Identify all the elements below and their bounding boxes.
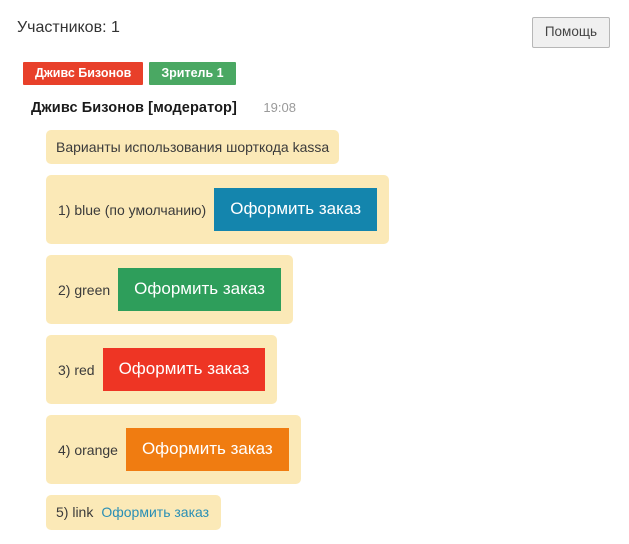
message-bubble-orange: 4) orange Оформить заказ bbox=[46, 415, 301, 484]
participant-badge-moderator[interactable]: Дживс Бизонов bbox=[23, 62, 143, 85]
message-bubble-link: 5) link Оформить заказ bbox=[46, 495, 221, 530]
bubble-label-link: 5) link bbox=[56, 503, 93, 521]
order-button-blue[interactable]: Оформить заказ bbox=[214, 188, 377, 231]
chat-message: Дживс Бизонов [модератор] 19:08 Варианты… bbox=[0, 98, 629, 541]
order-button-green[interactable]: Оформить заказ bbox=[118, 268, 281, 311]
bubble-label-blue: 1) blue (по умолчанию) bbox=[58, 201, 206, 219]
bubble-label-red: 3) red bbox=[58, 361, 95, 379]
order-link[interactable]: Оформить заказ bbox=[101, 503, 209, 521]
bubble-label-green: 2) green bbox=[58, 281, 110, 299]
message-bubble-text: Варианты использования шорткода kassa bbox=[46, 130, 339, 164]
message-bubble-list: Варианты использования шорткода kassa 1)… bbox=[0, 130, 629, 530]
message-timestamp: 19:08 bbox=[263, 100, 296, 115]
message-bubble-blue: 1) blue (по умолчанию) Оформить заказ bbox=[46, 175, 389, 244]
order-button-orange[interactable]: Оформить заказ bbox=[126, 428, 289, 471]
bubble-text: Варианты использования шорткода kassa bbox=[56, 130, 329, 164]
order-button-red[interactable]: Оформить заказ bbox=[103, 348, 266, 391]
help-button[interactable]: Помощь bbox=[532, 17, 610, 48]
message-bubble-green: 2) green Оформить заказ bbox=[46, 255, 293, 324]
participant-badge-list: Дживс Бизонов Зритель 1 bbox=[23, 62, 236, 85]
message-header: Дживс Бизонов [модератор] 19:08 bbox=[0, 98, 629, 124]
participants-count: Участников: 1 bbox=[17, 18, 120, 38]
chat-header: Участников: 1 Помощь bbox=[0, 0, 629, 52]
bubble-label-orange: 4) orange bbox=[58, 441, 118, 459]
participant-badge-viewer[interactable]: Зритель 1 bbox=[149, 62, 235, 85]
message-author: Дживс Бизонов [модератор] bbox=[31, 100, 237, 116]
message-bubble-red: 3) red Оформить заказ bbox=[46, 335, 277, 404]
